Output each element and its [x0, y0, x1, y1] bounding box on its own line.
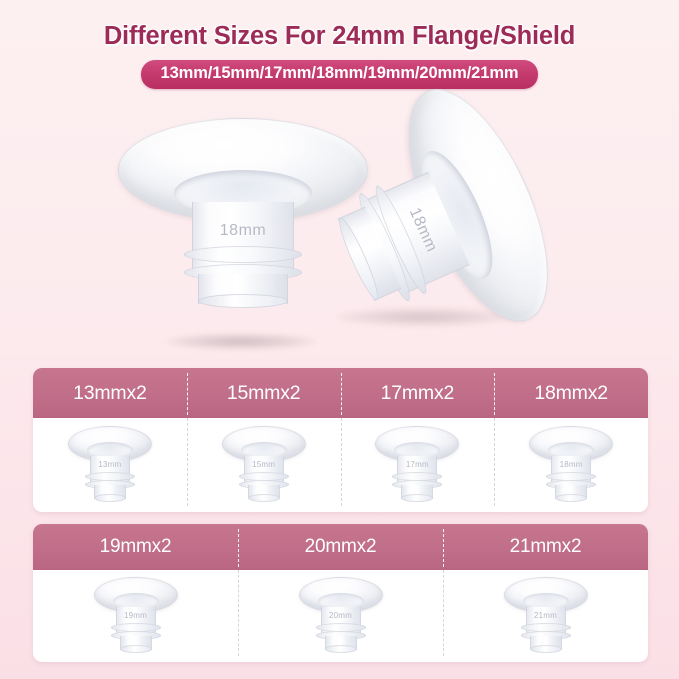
thumb-size-label: 15mm: [222, 460, 306, 469]
tilt-wrapper: 18mm: [283, 71, 589, 379]
page-title: Different Sizes For 24mm Flange/Shield: [0, 24, 679, 50]
size-thumb-cell: 20mm: [238, 570, 443, 662]
size-thumb-cell: 17mm: [341, 418, 495, 512]
thumb-size-label: 19mm: [94, 611, 178, 620]
thumb-size-label: 18mm: [529, 460, 613, 469]
size-thumb-cell: 21mm: [443, 570, 648, 662]
flange-thumbnail: 21mm: [504, 575, 588, 657]
badge-wrap: 13mm/15mm/17mm/18mm/19mm/20mm/21mm: [0, 60, 679, 89]
flange-thumbnail: 19mm: [94, 575, 178, 657]
size-card-row-1: 13mmx2 15mmx2 17mmx2 18mmx2 13mm 15mm: [33, 368, 648, 512]
size-thumb-cell: 19mm: [33, 570, 238, 662]
flange-thumbnail: 18mm: [529, 424, 613, 506]
thumb-size-label: 13mm: [68, 460, 152, 469]
size-thumb-cell: 18mm: [494, 418, 648, 512]
base-rim: [198, 294, 288, 308]
size-header-cell: 20mmx2: [238, 524, 443, 570]
size-header-cell: 17mmx2: [341, 368, 495, 418]
thumb-base-rim: [120, 645, 152, 653]
flange-thumbnail: 20mm: [299, 575, 383, 657]
thumb-base-rim: [530, 645, 562, 653]
size-thumb-cell: 13mm: [33, 418, 187, 512]
size-header-cell: 18mmx2: [494, 368, 648, 418]
size-header-cell: 19mmx2: [33, 524, 238, 570]
size-thumb-cell: 15mm: [187, 418, 341, 512]
flange-neck: 18mm: [184, 202, 302, 310]
hero-size-emboss: 18mm: [184, 222, 302, 240]
title-block: Different Sizes For 24mm Flange/Shield: [0, 24, 679, 50]
thumb-size-label: 21mm: [504, 611, 588, 620]
flange-thumbnail: 17mm: [375, 424, 459, 506]
thumb-base-rim: [325, 645, 357, 653]
thumb-size-label: 20mm: [299, 611, 383, 620]
size-header-cell: 15mmx2: [187, 368, 341, 418]
thumb-base-rim: [248, 494, 280, 502]
product-shadow: [166, 333, 316, 350]
thumb-size-label: 17mm: [375, 460, 459, 469]
thumb-base-rim: [555, 494, 587, 502]
neck-ring-upper: [184, 246, 302, 263]
size-header-cell: 13mmx2: [33, 368, 187, 418]
size-card-row-2: 19mmx2 20mmx2 21mmx2 19mm 20mm: [33, 524, 648, 662]
hero-flange-tilted: 18mm: [318, 110, 553, 340]
flange-thumbnail: 15mm: [222, 424, 306, 506]
size-header-cell: 21mmx2: [443, 524, 648, 570]
thumb-base-rim: [94, 494, 126, 502]
size-card-body-row: 19mm 20mm: [33, 570, 648, 662]
hero-product-area: 18mm 18mm: [0, 100, 679, 355]
size-card-header-row: 19mmx2 20mmx2 21mmx2: [33, 524, 648, 570]
thumb-base-rim: [401, 494, 433, 502]
flange-thumbnail: 13mm: [68, 424, 152, 506]
size-card-header-row: 13mmx2 15mmx2 17mmx2 18mmx2: [33, 368, 648, 418]
size-card-body-row: 13mm 15mm: [33, 418, 648, 512]
